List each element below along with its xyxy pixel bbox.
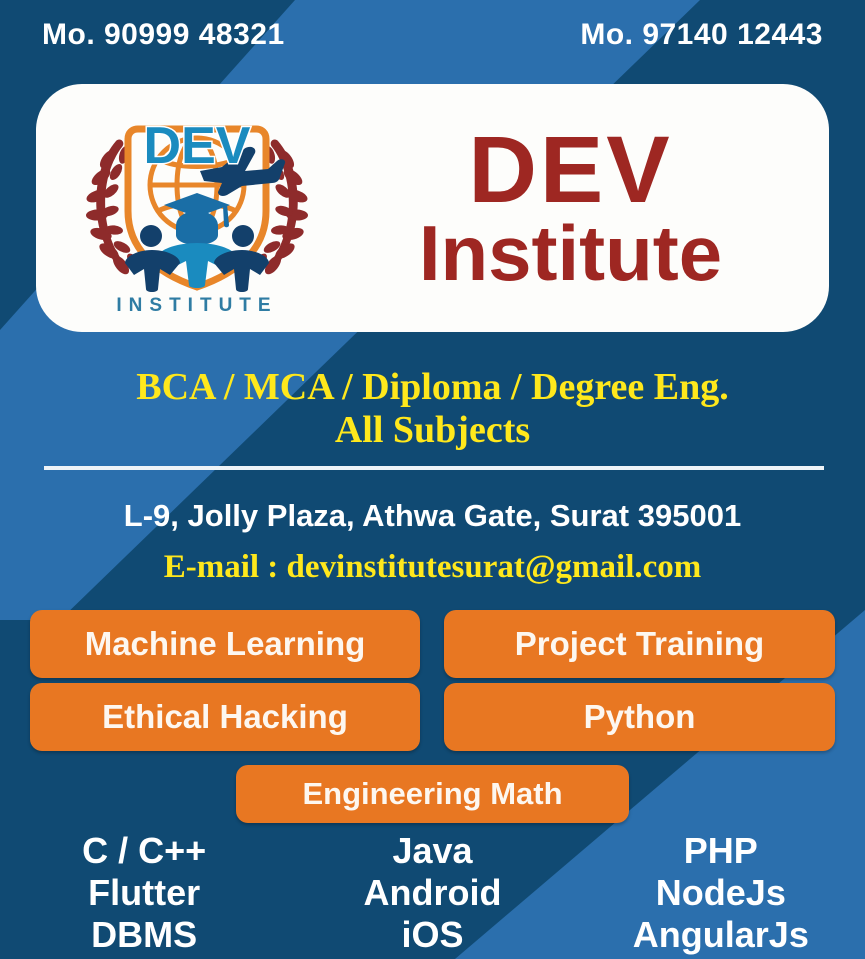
tech-item: NodeJs — [577, 872, 865, 914]
courses-headline: BCA / MCA / Diploma / Degree Eng. All Su… — [0, 366, 865, 451]
phone-number-right: Mo. 97140 12443 — [580, 18, 823, 52]
tech-column-1: C / C++ Flutter DBMS — [0, 830, 288, 956]
tech-item: Java — [288, 830, 576, 872]
email-line[interactable]: E-mail : devinstitutesurat@gmail.com — [0, 549, 865, 586]
pill-machine-learning[interactable]: Machine Learning — [30, 610, 420, 678]
tech-item: PHP — [577, 830, 865, 872]
institute-emblem: DEV INSTITUTE — [72, 93, 322, 323]
emblem-graphic: DEV — [72, 93, 322, 301]
emblem-dev-text: DEV — [144, 117, 251, 175]
horizontal-divider — [44, 466, 824, 470]
pill-ethical-hacking[interactable]: Ethical Hacking — [30, 683, 420, 751]
pill-engineering-math[interactable]: Engineering Math — [236, 765, 629, 823]
wordmark: DEV Institute — [322, 125, 829, 291]
tech-item: Android — [288, 872, 576, 914]
pill-project-training[interactable]: Project Training — [444, 610, 835, 678]
courses-line-2: All Subjects — [0, 409, 865, 452]
tech-item: C / C++ — [0, 830, 288, 872]
emblem-institute-label: INSTITUTE — [72, 295, 322, 317]
tech-column-3: PHP NodeJs AngularJs — [577, 830, 865, 956]
address-line: L-9, Jolly Plaza, Athwa Gate, Surat 3950… — [0, 498, 865, 534]
tech-item: iOS — [288, 914, 576, 956]
logo-card: DEV INSTITUTE DEV Institute — [36, 84, 829, 332]
wordmark-dev: DEV — [322, 125, 819, 216]
phone-number-left: Mo. 90999 48321 — [42, 18, 285, 52]
pill-python[interactable]: Python — [444, 683, 835, 751]
tech-column-2: Java Android iOS — [288, 830, 576, 956]
phone-number-row: Mo. 90999 48321 Mo. 97140 12443 — [0, 18, 865, 52]
tech-item: Flutter — [0, 872, 288, 914]
technology-columns: C / C++ Flutter DBMS Java Android iOS PH… — [0, 830, 865, 956]
tech-item: AngularJs — [577, 914, 865, 956]
wordmark-institute: Institute — [322, 216, 819, 291]
courses-line-1: BCA / MCA / Diploma / Degree Eng. — [0, 366, 865, 409]
poster-flyer: Mo. 90999 48321 Mo. 97140 12443 — [0, 0, 865, 959]
tech-item: DBMS — [0, 914, 288, 956]
